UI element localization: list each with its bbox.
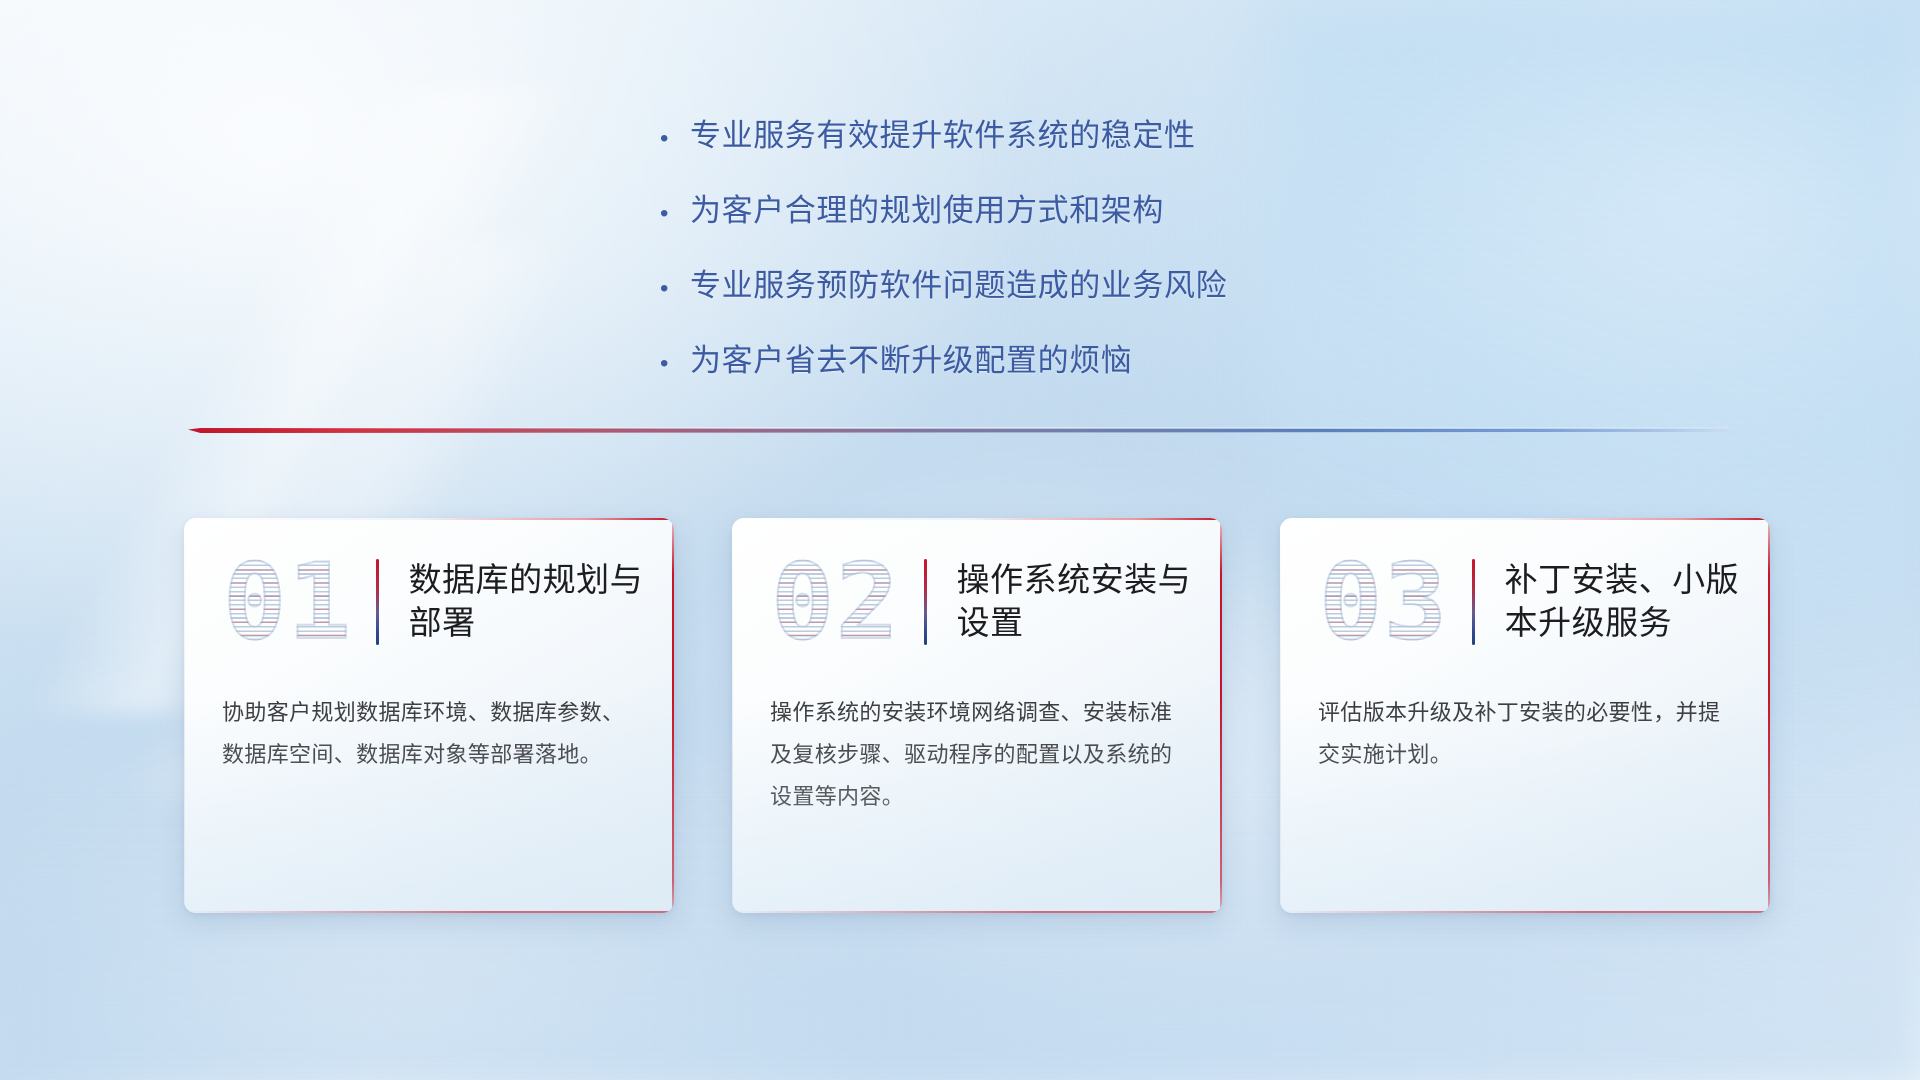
- card-body-text: 操作系统的安装环境网络调查、安装标准及复核步骤、驱动程序的配置以及系统的设置等内…: [732, 692, 1222, 819]
- divider-highlight: [188, 427, 1728, 429]
- card-accent-rule: [376, 559, 379, 645]
- card-02[interactable]: 02 02 操作系统安装与设置 操作系统的安装环境网络调查、安装标准及复核步骤、…: [732, 518, 1222, 913]
- list-item: • 专业服务预防软件问题造成的业务风险: [660, 260, 1227, 305]
- card-01[interactable]: 01 01 数据库的规划与部署 协助客户规划数据库环境、数据库参数、数据库空间、…: [184, 518, 674, 913]
- bullet-marker-icon: •: [660, 202, 690, 226]
- card-number-text: 02: [771, 550, 900, 654]
- list-item: • 为客户合理的规划使用方式和架构: [660, 185, 1227, 230]
- bullet-marker-icon: •: [660, 352, 690, 376]
- card-title: 补丁安装、小版本升级服务: [1505, 559, 1745, 645]
- card-number-watermark: 01 01: [218, 542, 358, 662]
- bullet-text: 专业服务预防软件问题造成的业务风险: [690, 260, 1227, 305]
- card-border-bottom: [1280, 911, 1770, 914]
- card-number-watermark: 03 03: [1314, 542, 1454, 662]
- bullet-marker-icon: •: [660, 127, 690, 151]
- card-body-text: 评估版本升级及补丁安装的必要性，并提交实施计划。: [1280, 692, 1770, 776]
- card-header: 03 03 补丁安装、小版本升级服务: [1280, 518, 1770, 686]
- list-item: • 为客户省去不断升级配置的烦恼: [660, 335, 1227, 380]
- card-number-text: 01: [223, 550, 352, 654]
- bullet-text: 为客户省去不断升级配置的烦恼: [690, 335, 1132, 380]
- card-accent-rule: [924, 559, 927, 645]
- card-title: 操作系统安装与设置: [957, 559, 1197, 645]
- bullet-marker-icon: •: [660, 277, 690, 301]
- card-header: 02 02 操作系统安装与设置: [732, 518, 1222, 686]
- card-header: 01 01 数据库的规划与部署: [184, 518, 674, 686]
- card-accent-rule: [1472, 559, 1475, 645]
- section-divider: [188, 424, 1728, 440]
- card-group: 01 01 数据库的规划与部署 协助客户规划数据库环境、数据库参数、数据库空间、…: [184, 518, 1770, 913]
- card-number-text: 03: [1319, 550, 1448, 654]
- card-title: 数据库的规划与部署: [409, 559, 649, 645]
- card-body-text: 协助客户规划数据库环境、数据库参数、数据库空间、数据库对象等部署落地。: [184, 692, 674, 776]
- card-border-bottom: [184, 911, 674, 914]
- list-item: • 专业服务有效提升软件系统的稳定性: [660, 110, 1227, 155]
- bullet-list: • 专业服务有效提升软件系统的稳定性 • 为客户合理的规划使用方式和架构 • 专…: [660, 110, 1227, 380]
- card-border-bottom: [732, 911, 1222, 914]
- card-number-watermark: 02 02: [766, 542, 906, 662]
- bullet-text: 为客户合理的规划使用方式和架构: [690, 185, 1164, 230]
- bullet-text: 专业服务有效提升软件系统的稳定性: [690, 110, 1196, 155]
- card-03[interactable]: 03 03 补丁安装、小版本升级服务 评估版本升级及补丁安装的必要性，并提交实施…: [1280, 518, 1770, 913]
